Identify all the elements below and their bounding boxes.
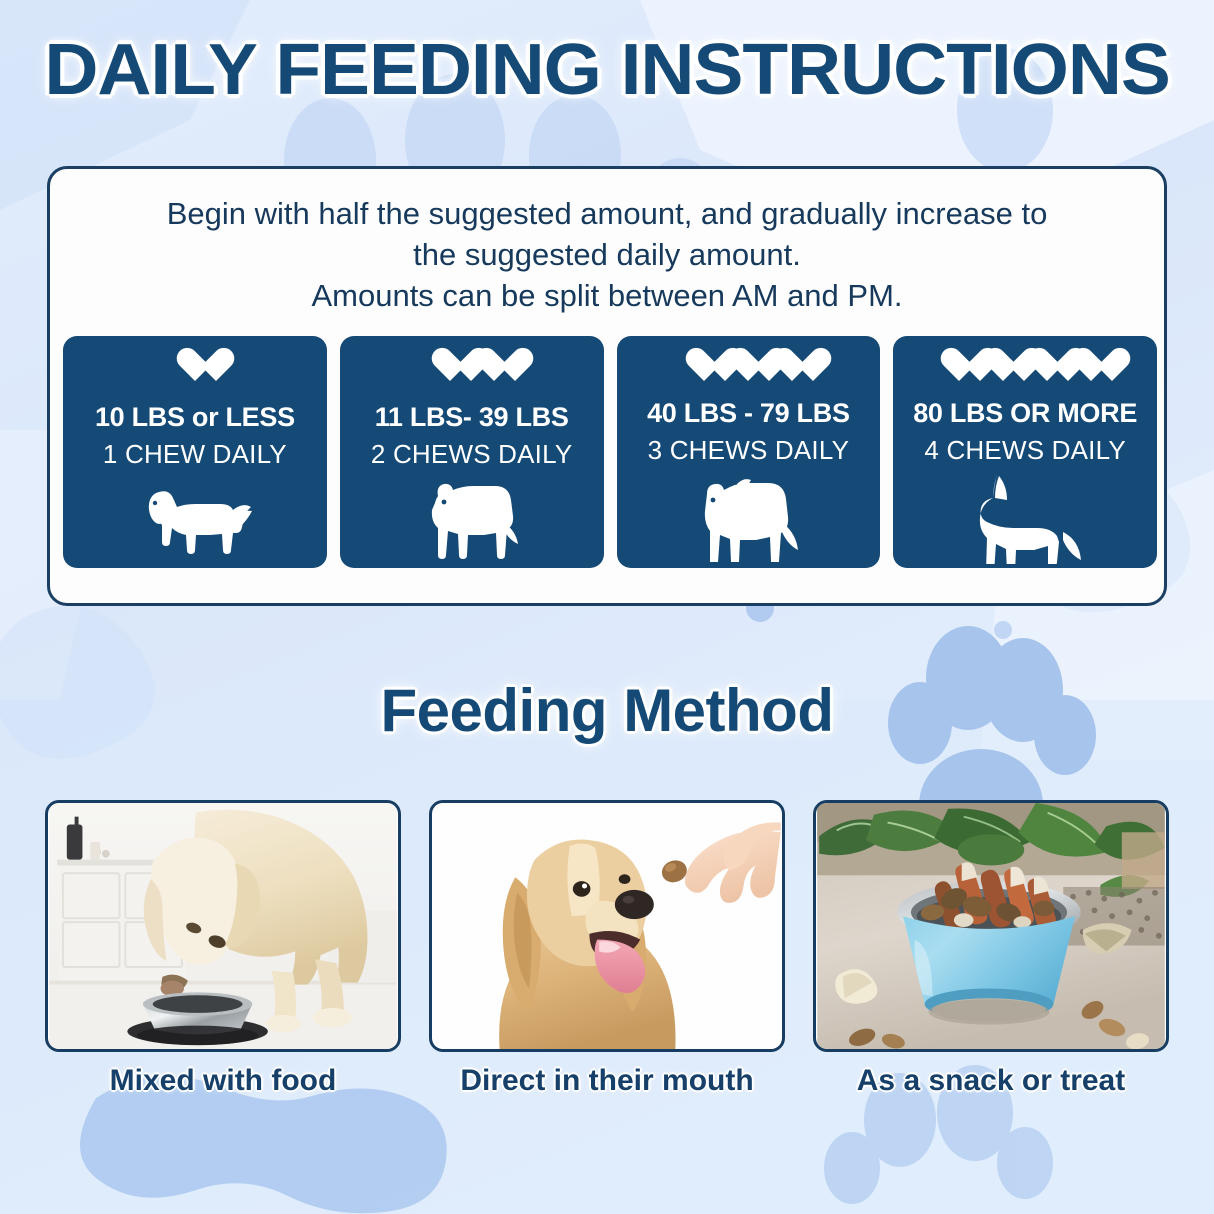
heart-rating-4 — [939, 348, 1111, 384]
heart-icon — [175, 348, 215, 384]
heart-rating-1 — [175, 348, 215, 388]
heart-icon — [728, 348, 768, 384]
photo-cell-mixed-with-food: Mixed with food — [45, 800, 401, 1098]
instructions-text-block: Begin with half the suggested amount, an… — [50, 169, 1164, 317]
photo-caption: Mixed with food — [45, 1064, 401, 1098]
weight-range-label: 10 LBS or LESS — [95, 402, 295, 433]
medium-dog-icon — [420, 474, 524, 560]
heart-icon — [430, 348, 470, 384]
dose-label: 1 CHEW DAILY — [103, 439, 287, 470]
feeding-instructions-panel: Begin with half the suggested amount, an… — [47, 166, 1167, 606]
heart-rating-3 — [684, 348, 812, 384]
feeding-method-heading: Feeding Method — [381, 676, 834, 745]
section-heading-wrapper: Feeding Method — [0, 676, 1214, 745]
heart-icon — [1071, 348, 1111, 384]
feeding-method-photo-row: Mixed with food — [45, 800, 1169, 1098]
infographic-page: DAILY FEEDING INSTRUCTIONS Begin with ha… — [0, 0, 1214, 1214]
photo-caption: As a snack or treat — [813, 1064, 1169, 1098]
photo-cell-direct-in-mouth: Direct in their mouth — [429, 800, 785, 1098]
hand-feeding-cocker-spaniel-treat-photo — [429, 800, 785, 1052]
blue-bowl-with-chew-sticks-photo — [813, 800, 1169, 1052]
weight-card-80lbs-or-more[interactable]: 80 LBS OR MORE 4 CHEWS DAILY — [893, 336, 1157, 568]
dose-label: 3 CHEWS DAILY — [648, 435, 850, 466]
dose-label: 2 CHEWS DAILY — [371, 439, 573, 470]
dose-label: 4 CHEWS DAILY — [924, 435, 1126, 466]
weight-card-10lbs-or-less[interactable]: 10 LBS or LESS 1 CHEW DAILY — [63, 336, 327, 568]
page-title-wrapper: DAILY FEEDING INSTRUCTIONS — [0, 34, 1214, 106]
heart-icon — [1027, 348, 1067, 384]
instructions-line-2: the suggested daily amount. — [90, 234, 1124, 275]
large-dog-icon — [693, 470, 803, 562]
page-title: DAILY FEEDING INSTRUCTIONS — [44, 34, 1169, 106]
heart-icon — [772, 348, 812, 384]
weight-dosage-card-row: 10 LBS or LESS 1 CHEW DAILY — [63, 336, 1157, 568]
heart-icon — [939, 348, 979, 384]
photo-cell-snack-or-treat: As a snack or treat — [813, 800, 1169, 1098]
instructions-line-3: Amounts can be split between AM and PM. — [90, 275, 1124, 316]
instructions-line-1: Begin with half the suggested amount, an… — [90, 193, 1124, 234]
heart-icon — [983, 348, 1023, 384]
golden-retriever-eating-from-bowl-photo — [45, 800, 401, 1052]
weight-range-label: 11 LBS- 39 LBS — [375, 402, 569, 433]
weight-range-label: 80 LBS OR MORE — [913, 398, 1137, 429]
heart-icon — [474, 348, 514, 384]
weight-range-label: 40 LBS - 79 LBS — [647, 398, 850, 429]
weight-card-40-79lbs[interactable]: 40 LBS - 79 LBS 3 CHEWS DAILY — [617, 336, 881, 568]
small-dog-icon — [136, 474, 254, 560]
heart-icon — [684, 348, 724, 384]
weight-card-11-39lbs[interactable]: 11 LBS- 39 LBS 2 CHEWS DAILY — [340, 336, 604, 568]
photo-caption: Direct in their mouth — [429, 1064, 785, 1098]
heart-rating-2 — [430, 348, 514, 388]
xlarge-dog-icon — [967, 470, 1083, 564]
